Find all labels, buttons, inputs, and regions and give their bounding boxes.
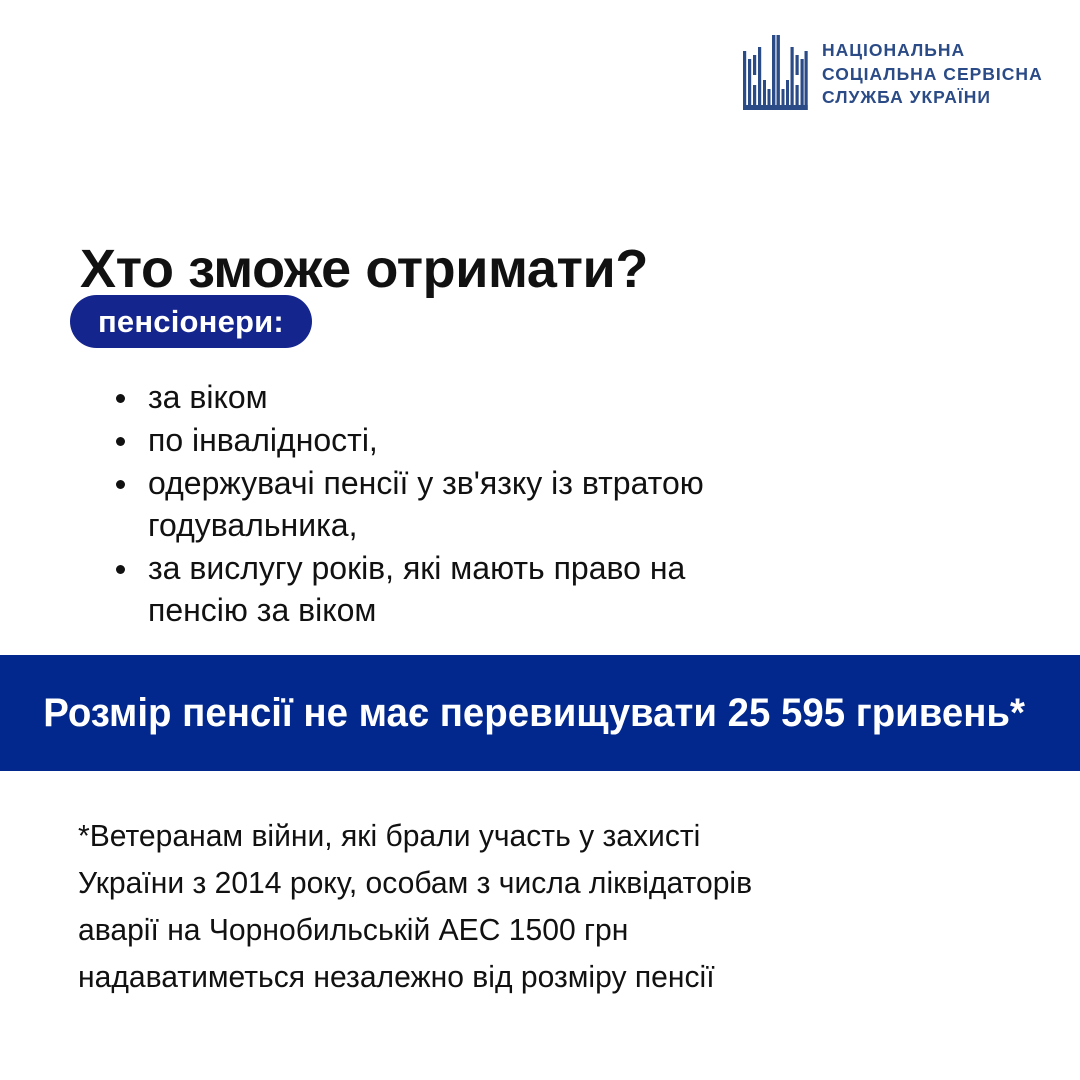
footnote-line: надаватиметься незалежно від розміру пен…: [78, 953, 980, 1000]
footnote-line: аварії на Чорнобильській АЕС 1500 грн: [78, 906, 980, 953]
category-badge-pensioners: пенсіонери:: [70, 295, 312, 348]
list-item: за вислугу років, які мають право на пен…: [104, 547, 784, 631]
footnote: *Ветеранам війни, які брали участь у зах…: [78, 812, 1008, 1000]
footnote-line: *Ветеранам війни, які брали участь у зах…: [78, 812, 980, 859]
organization-logo: НАЦІОНАЛЬНА СОЦІАЛЬНА СЕРВІСНА СЛУЖБА УК…: [742, 33, 1043, 115]
list-item: за віком: [104, 376, 784, 418]
eligibility-list: за віком по інвалідності, одержувачі пен…: [104, 376, 784, 632]
logo-line-1: НАЦІОНАЛЬНА: [822, 40, 1043, 61]
list-item: по інвалідності,: [104, 419, 784, 461]
logo-line-2: СОЦІАЛЬНА СЕРВІСНА: [822, 64, 1043, 85]
list-item: одержувачі пенсії у зв'язку із втратою г…: [104, 462, 784, 546]
infographic-page: НАЦІОНАЛЬНА СОЦІАЛЬНА СЕРВІСНА СЛУЖБА УК…: [0, 0, 1080, 1080]
footnote-line: України з 2014 року, особам з числа лікв…: [78, 859, 980, 906]
logo-line-3: СЛУЖБА УКРАЇНИ: [822, 87, 1043, 108]
logo-wordmark: НАЦІОНАЛЬНА СОЦІАЛЬНА СЕРВІСНА СЛУЖБА УК…: [822, 40, 1043, 108]
pension-limit-banner: Розмір пенсії не має перевищувати 25 595…: [0, 655, 1080, 771]
tryzub-trident-logo-icon: [742, 33, 808, 115]
pension-limit-text: Розмір пенсії не має перевищувати 25 595…: [0, 691, 1025, 736]
page-title: Хто зможе отримати?: [80, 240, 648, 299]
